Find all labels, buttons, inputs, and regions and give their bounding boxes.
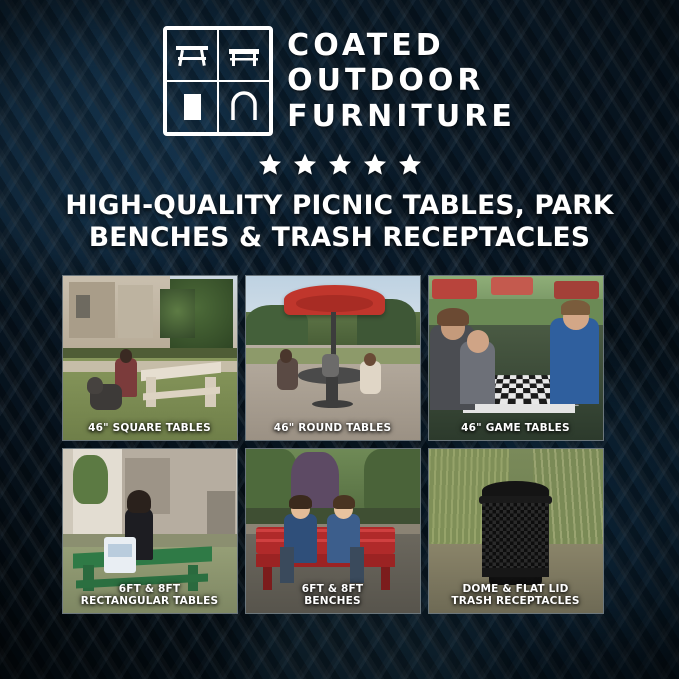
product-caption: DOME & FLAT LID TRASH RECEPTACLES: [429, 578, 603, 613]
product-photo-game-tables: [429, 276, 603, 440]
product-photo-round-tables: [246, 276, 420, 440]
product-card-game-tables[interactable]: 46" GAME TABLES: [428, 275, 604, 441]
poster-canvas: COATED OUTDOOR FURNITURE HIGH-QUALITY PI…: [0, 0, 679, 679]
wordmark-line-2: OUTDOOR: [287, 64, 516, 98]
star-icon: [397, 152, 423, 177]
wordmark-line-1: COATED: [287, 29, 516, 63]
brand-logo: COATED OUTDOOR FURNITURE: [163, 26, 516, 136]
product-card-rectangular-tables[interactable]: 6FT & 8FT RECTANGULAR TABLES: [62, 448, 238, 614]
product-caption-line-1: DOME & FLAT LID: [462, 583, 568, 595]
logo-wordmark: COATED OUTDOOR FURNITURE: [287, 29, 516, 134]
product-caption-line-1: 6FT & 8FT: [119, 583, 181, 595]
star-icon: [292, 152, 318, 177]
product-caption: 46" SQUARE TABLES: [63, 417, 237, 440]
product-card-trash-receptacles[interactable]: DOME & FLAT LID TRASH RECEPTACLES: [428, 448, 604, 614]
headline-line-1: HIGH-QUALITY PICNIC TABLES, PARK: [40, 190, 640, 222]
product-caption-line-2: RECTANGULAR TABLES: [81, 595, 218, 607]
picnic-table-icon: [166, 29, 218, 81]
product-caption-line-2: BENCHES: [304, 595, 361, 607]
product-caption: 6FT & 8FT RECTANGULAR TABLES: [63, 578, 237, 613]
trash-receptacle-icon: [166, 81, 218, 133]
star-icon: [362, 152, 388, 177]
product-caption: 46" GAME TABLES: [429, 417, 603, 440]
star-icon: [327, 152, 353, 177]
star-icon: [257, 152, 283, 177]
star-rating: [257, 152, 423, 177]
product-caption: 46" ROUND TABLES: [246, 417, 420, 440]
product-caption-line-2: TRASH RECEPTACLES: [451, 595, 579, 607]
product-card-square-tables[interactable]: 46" SQUARE TABLES: [62, 275, 238, 441]
product-grid: 46" SQUARE TABLES: [62, 275, 618, 614]
product-caption: 6FT & 8FT BENCHES: [246, 578, 420, 613]
product-caption-line-1: 6FT & 8FT: [302, 583, 364, 595]
product-card-benches[interactable]: 6FT & 8FT BENCHES: [245, 448, 421, 614]
product-photo-square-tables: [63, 276, 237, 440]
logo-mark-icon: [163, 26, 273, 136]
headline: HIGH-QUALITY PICNIC TABLES, PARK BENCHES…: [40, 190, 640, 255]
arch-bike-rack-icon: [218, 81, 270, 133]
headline-line-2: BENCHES & TRASH RECEPTACLES: [40, 222, 640, 254]
park-bench-icon: [218, 29, 270, 81]
wordmark-line-3: FURNITURE: [287, 100, 516, 134]
product-card-round-tables[interactable]: 46" ROUND TABLES: [245, 275, 421, 441]
